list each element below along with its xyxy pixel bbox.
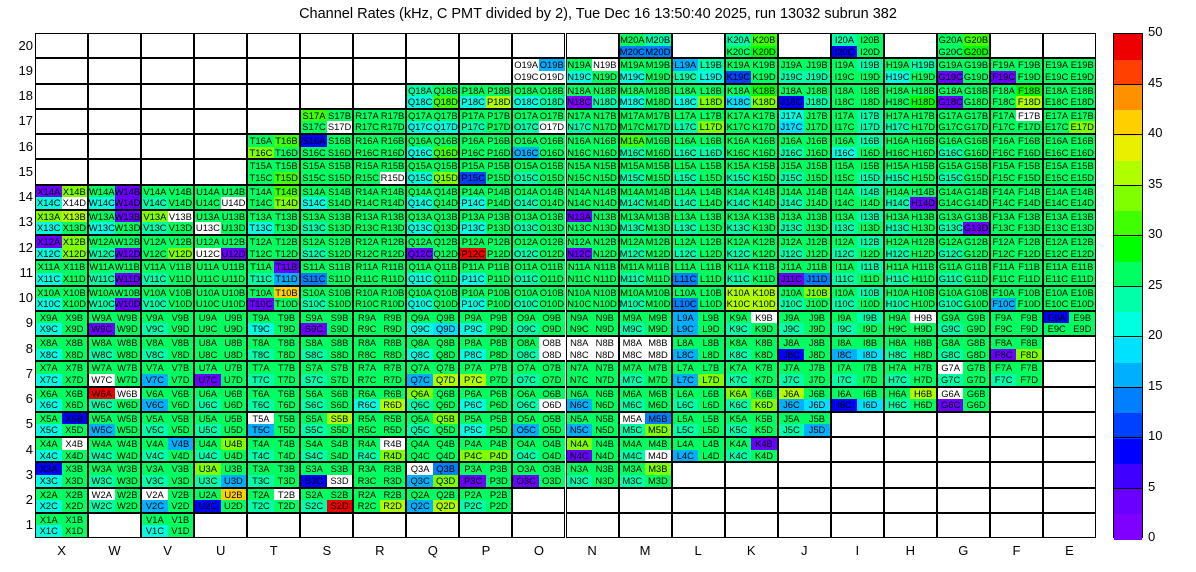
channel-J19D[interactable]: J19D xyxy=(804,71,830,83)
channel-K6B[interactable]: K6B xyxy=(751,388,777,400)
channel-Q13A[interactable]: Q13A xyxy=(407,211,433,223)
channel-V6D[interactable]: V6D xyxy=(168,399,194,411)
channel-T6C[interactable]: T6C xyxy=(248,399,274,411)
heatmap-cell-Q5[interactable]: Q5AQ5BQ5CQ5D xyxy=(406,412,459,437)
channel-R13C[interactable]: R13C xyxy=(354,222,380,234)
channel-Q4A[interactable]: Q4A xyxy=(407,438,433,450)
heatmap-cell-U14[interactable]: U14AU14BU14CU14D xyxy=(194,185,247,210)
channel-N11D[interactable]: N11D xyxy=(592,273,618,285)
heatmap-cell-T16[interactable]: T16AT16BT16CT16D xyxy=(247,134,300,159)
channel-K11A[interactable]: K11A xyxy=(726,261,752,273)
channel-P9C[interactable]: P9C xyxy=(460,323,486,335)
heatmap-cell-L10[interactable]: L10AL10BL10CL10D xyxy=(672,286,725,311)
channel-U7D[interactable]: U7D xyxy=(221,374,247,386)
channel-S12B[interactable]: S12B xyxy=(327,236,353,248)
heatmap-cell-U7[interactable]: U7AU7BU7CU7D xyxy=(194,361,247,386)
heatmap-cell-T8[interactable]: T8AT8BT8CT8D xyxy=(247,336,300,361)
channel-L7D[interactable]: L7D xyxy=(698,374,724,386)
channel-R3D[interactable]: R3D xyxy=(380,475,406,487)
channel-F14B[interactable]: F14B xyxy=(1016,186,1042,198)
heatmap-cell-X11[interactable]: X11AX11BX11CX11D xyxy=(35,260,88,285)
channel-J7A[interactable]: J7A xyxy=(779,362,805,374)
channel-K20C[interactable]: K20C xyxy=(726,46,752,58)
channel-J10A[interactable]: J10A xyxy=(779,287,805,299)
channel-K11C[interactable]: K11C xyxy=(726,273,752,285)
channel-R2D[interactable]: R2D xyxy=(380,500,406,512)
channel-J8C[interactable]: J8C xyxy=(779,349,805,361)
channel-G12D[interactable]: G12D xyxy=(963,248,989,260)
channel-U6D[interactable]: U6D xyxy=(221,399,247,411)
channel-X14B[interactable]: X14B xyxy=(62,186,88,198)
channel-G11C[interactable]: G11C xyxy=(938,273,964,285)
channel-G7B[interactable]: G7B xyxy=(963,362,989,374)
channel-Q14B[interactable]: Q14B xyxy=(433,186,459,198)
heatmap-cell-I15[interactable]: I15AI15BI15CI15D xyxy=(831,159,884,184)
heatmap-cell-Q12[interactable]: Q12AQ12BQ12CQ12D xyxy=(406,235,459,260)
heatmap-cell-V17[interactable] xyxy=(141,109,194,134)
heatmap-cell-K11[interactable]: K11AK11BK11CK11D xyxy=(725,260,778,285)
channel-V8B[interactable]: V8B xyxy=(168,337,194,349)
channel-T14D[interactable]: T14D xyxy=(274,197,300,209)
heatmap-cell-U18[interactable] xyxy=(194,84,247,109)
channel-Q16A[interactable]: Q16A xyxy=(407,135,433,147)
heatmap-cell-L8[interactable]: L8AL8BL8CL8D xyxy=(672,336,725,361)
channel-P2C[interactable]: P2C xyxy=(460,500,486,512)
channel-F15B[interactable]: F15B xyxy=(1016,160,1042,172)
channel-P3D[interactable]: P3D xyxy=(486,475,512,487)
channel-T10B[interactable]: T10B xyxy=(274,287,300,299)
channel-R13D[interactable]: R13D xyxy=(380,222,406,234)
heatmap-cell-L20[interactable] xyxy=(672,33,725,58)
heatmap-cell-K16[interactable]: K16AK16BK16CK16D xyxy=(725,134,778,159)
channel-V14A[interactable]: V14A xyxy=(142,186,168,198)
channel-U10C[interactable]: U10C xyxy=(195,298,221,310)
channel-L12C[interactable]: L12C xyxy=(673,248,699,260)
channel-R16C[interactable]: R16C xyxy=(354,147,380,159)
channel-L14A[interactable]: L14A xyxy=(673,186,699,198)
channel-G20B[interactable]: G20B xyxy=(963,34,989,46)
channel-G10C[interactable]: G10C xyxy=(938,298,964,310)
channel-M20D[interactable]: M20D xyxy=(645,46,671,58)
channel-P14D[interactable]: P14D xyxy=(486,197,512,209)
heatmap-cell-F18[interactable]: F18AF18BF18CF18D xyxy=(990,84,1043,109)
channel-P7D[interactable]: P7D xyxy=(486,374,512,386)
channel-I15D[interactable]: I15D xyxy=(857,172,883,184)
channel-J13B[interactable]: J13B xyxy=(804,211,830,223)
channel-I12A[interactable]: I12A xyxy=(832,236,858,248)
channel-E10A[interactable]: E10A xyxy=(1044,287,1070,299)
channel-K9D[interactable]: K9D xyxy=(751,323,777,335)
channel-L18A[interactable]: L18A xyxy=(673,85,699,97)
channel-L17C[interactable]: L17C xyxy=(673,121,699,133)
channel-H17D[interactable]: H17D xyxy=(910,121,936,133)
channel-Q9B[interactable]: Q9B xyxy=(433,312,459,324)
heatmap-cell-V10[interactable]: V10AV10BV10CV10D xyxy=(141,286,194,311)
heatmap-cell-I19[interactable]: I19AI19BI19CI19D xyxy=(831,58,884,83)
channel-H11A[interactable]: H11A xyxy=(885,261,911,273)
channel-R12B[interactable]: R12B xyxy=(380,236,406,248)
channel-W10C[interactable]: W10C xyxy=(89,298,115,310)
channel-G19A[interactable]: G19A xyxy=(938,59,964,71)
channel-M18C[interactable]: M18C xyxy=(620,96,646,108)
channel-X7B[interactable]: X7B xyxy=(62,362,88,374)
channel-M12B[interactable]: M12B xyxy=(645,236,671,248)
heatmap-cell-Q11[interactable]: Q11AQ11BQ11CQ11D xyxy=(406,260,459,285)
channel-Q4D[interactable]: Q4D xyxy=(433,450,459,462)
channel-M13D[interactable]: M13D xyxy=(645,222,671,234)
channel-W14B[interactable]: W14B xyxy=(115,186,141,198)
channel-K12C[interactable]: K12C xyxy=(726,248,752,260)
channel-S8C[interactable]: S8C xyxy=(301,349,327,361)
channel-O18B[interactable]: O18B xyxy=(539,85,565,97)
channel-S13A[interactable]: S13A xyxy=(301,211,327,223)
channel-S14C[interactable]: S14C xyxy=(301,197,327,209)
channel-O9A[interactable]: O9A xyxy=(513,312,539,324)
channel-K18C[interactable]: K18C xyxy=(726,96,752,108)
channel-T5D[interactable]: T5D xyxy=(274,424,300,436)
channel-P17C[interactable]: P17C xyxy=(460,121,486,133)
channel-I15B[interactable]: I15B xyxy=(857,160,883,172)
heatmap-cell-T7[interactable]: T7AT7BT7CT7D xyxy=(247,361,300,386)
heatmap-cell-O1[interactable] xyxy=(512,513,565,538)
channel-M6C[interactable]: M6C xyxy=(620,399,646,411)
channel-T12A[interactable]: T12A xyxy=(248,236,274,248)
heatmap-cell-S5[interactable]: S5AS5BS5CS5D xyxy=(300,412,353,437)
heatmap-cell-S14[interactable]: S14AS14BS14CS14D xyxy=(300,185,353,210)
channel-N19B[interactable]: N19B xyxy=(592,59,618,71)
channel-E19A[interactable]: E19A xyxy=(1044,59,1070,71)
channel-H15C[interactable]: H15C xyxy=(885,172,911,184)
channel-O19C[interactable]: O19C xyxy=(513,71,539,83)
heatmap-cell-E20[interactable] xyxy=(1043,33,1096,58)
channel-L5A[interactable]: L5A xyxy=(673,413,699,425)
heatmap-cell-O7[interactable]: O7AO7BO7CO7D xyxy=(512,361,565,386)
channel-Q6C[interactable]: Q6C xyxy=(407,399,433,411)
channel-S13C[interactable]: S13C xyxy=(301,222,327,234)
channel-G18A[interactable]: G18A xyxy=(938,85,964,97)
channel-V1C[interactable]: V1C xyxy=(142,525,168,537)
channel-S17C[interactable]: S17C xyxy=(301,121,327,133)
heatmap-cell-P4[interactable]: P4AP4BP4CP4D xyxy=(459,437,512,462)
heatmap-cell-T17[interactable] xyxy=(247,109,300,134)
channel-W13D[interactable]: W13D xyxy=(115,222,141,234)
channel-Q17B[interactable]: Q17B xyxy=(433,110,459,122)
heatmap-cell-K18[interactable]: K18AK18BK18CK18D xyxy=(725,84,778,109)
channel-W7C[interactable]: W7C xyxy=(89,374,115,386)
channel-K19C[interactable]: K19C xyxy=(726,71,752,83)
heatmap-cell-E7[interactable] xyxy=(1043,361,1096,386)
channel-Q10C[interactable]: Q10C xyxy=(407,298,433,310)
channel-T7B[interactable]: T7B xyxy=(274,362,300,374)
heatmap-cell-R14[interactable]: R14AR14BR14CR14D xyxy=(353,185,406,210)
channel-F7C[interactable]: F7C xyxy=(991,374,1017,386)
channel-G14C[interactable]: G14C xyxy=(938,197,964,209)
channel-T13D[interactable]: T13D xyxy=(274,222,300,234)
channel-R5C[interactable]: R5C xyxy=(354,424,380,436)
heatmap-cell-N12[interactable]: N12AN12BN12CN12D xyxy=(566,235,619,260)
channel-E14C[interactable]: E14C xyxy=(1044,197,1070,209)
channel-X12D[interactable]: X12D xyxy=(62,248,88,260)
channel-G7D[interactable]: G7D xyxy=(963,374,989,386)
channel-U7B[interactable]: U7B xyxy=(221,362,247,374)
channel-V6B[interactable]: V6B xyxy=(168,388,194,400)
channel-R17C[interactable]: R17C xyxy=(354,121,380,133)
heatmap-cell-R5[interactable]: R5AR5BR5CR5D xyxy=(353,412,406,437)
channel-T2B[interactable]: T2B xyxy=(274,489,300,501)
channel-L6D[interactable]: L6D xyxy=(698,399,724,411)
channel-Q3A[interactable]: Q3A xyxy=(407,463,433,475)
channel-F8D[interactable]: F8D xyxy=(1016,349,1042,361)
heatmap-cell-R19[interactable] xyxy=(353,58,406,83)
channel-X1B[interactable]: X1B xyxy=(62,514,88,526)
channel-G10D[interactable]: G10D xyxy=(963,298,989,310)
heatmap-cell-O2[interactable] xyxy=(512,488,565,513)
channel-O10D[interactable]: O10D xyxy=(539,298,565,310)
heatmap-cell-L9[interactable]: L9AL9BL9CL9D xyxy=(672,311,725,336)
channel-E16D[interactable]: E16D xyxy=(1069,147,1095,159)
heatmap-cell-J17[interactable]: J17AJ17BJ17CJ17D xyxy=(778,109,831,134)
channel-T7A[interactable]: T7A xyxy=(248,362,274,374)
heatmap-cell-V19[interactable] xyxy=(141,58,194,83)
channel-M15A[interactable]: M15A xyxy=(620,160,646,172)
channel-V3A[interactable]: V3A xyxy=(142,463,168,475)
heatmap-cell-K7[interactable]: K7AK7BK7CK7D xyxy=(725,361,778,386)
channel-H19A[interactable]: H19A xyxy=(885,59,911,71)
channel-U9D[interactable]: U9D xyxy=(221,323,247,335)
channel-J13D[interactable]: J13D xyxy=(804,222,830,234)
channel-Q2B[interactable]: Q2B xyxy=(433,489,459,501)
heatmap-cell-M7[interactable]: M7AM7BM7CM7D xyxy=(619,361,672,386)
channel-T9C[interactable]: T9C xyxy=(248,323,274,335)
channel-U10B[interactable]: U10B xyxy=(221,287,247,299)
channel-X12B[interactable]: X12B xyxy=(62,236,88,248)
channel-N12B[interactable]: N12B xyxy=(592,236,618,248)
channel-Q7D[interactable]: Q7D xyxy=(433,374,459,386)
heatmap-cell-V14[interactable]: V14AV14BV14CV14D xyxy=(141,185,194,210)
channel-N14B[interactable]: N14B xyxy=(592,186,618,198)
channel-V3D[interactable]: V3D xyxy=(168,475,194,487)
channel-W9D[interactable]: W9D xyxy=(115,323,141,335)
channel-O11B[interactable]: O11B xyxy=(539,261,565,273)
channel-E13D[interactable]: E13D xyxy=(1069,222,1095,234)
heatmap-cell-R12[interactable]: R12AR12BR12CR12D xyxy=(353,235,406,260)
channel-T10C[interactable]: T10C xyxy=(248,298,274,310)
channel-G8C[interactable]: G8C xyxy=(938,349,964,361)
channel-N17A[interactable]: N17A xyxy=(567,110,593,122)
channel-K20D[interactable]: K20D xyxy=(751,46,777,58)
channel-V2A[interactable]: V2A xyxy=(142,489,168,501)
channel-K10A[interactable]: K10A xyxy=(726,287,752,299)
channel-F8A[interactable]: F8A xyxy=(991,337,1017,349)
channel-H16B[interactable]: H16B xyxy=(910,135,936,147)
heatmap-cell-U1[interactable] xyxy=(194,513,247,538)
channel-T2A[interactable]: T2A xyxy=(248,489,274,501)
heatmap-cell-E13[interactable]: E13AE13BE13CE13D xyxy=(1043,210,1096,235)
channel-U13B[interactable]: U13B xyxy=(221,211,247,223)
heatmap-cell-M2[interactable] xyxy=(619,488,672,513)
channel-I14B[interactable]: I14B xyxy=(857,186,883,198)
channel-G16C[interactable]: G16C xyxy=(938,147,964,159)
channel-H9C[interactable]: H9C xyxy=(885,323,911,335)
channel-M8A[interactable]: M8A xyxy=(620,337,646,349)
channel-R9D[interactable]: R9D xyxy=(380,323,406,335)
channel-P12B[interactable]: P12B xyxy=(486,236,512,248)
channel-U12D[interactable]: U12D xyxy=(221,248,247,260)
heatmap-cell-X17[interactable] xyxy=(35,109,88,134)
channel-Q9C[interactable]: Q9C xyxy=(407,323,433,335)
channel-O8B[interactable]: O8B xyxy=(539,337,565,349)
channel-O10B[interactable]: O10B xyxy=(539,287,565,299)
channel-R6A[interactable]: R6A xyxy=(354,388,380,400)
heatmap-cell-L18[interactable]: L18AL18BL18CL18D xyxy=(672,84,725,109)
channel-I14A[interactable]: I14A xyxy=(832,186,858,198)
channel-S10C[interactable]: S10C xyxy=(301,298,327,310)
heatmap-cell-S1[interactable] xyxy=(300,513,353,538)
heatmap-cell-I1[interactable] xyxy=(831,513,884,538)
channel-V7A[interactable]: V7A xyxy=(142,362,168,374)
channel-L16B[interactable]: L16B xyxy=(698,135,724,147)
channel-X2B[interactable]: X2B xyxy=(62,489,88,501)
channel-M11A[interactable]: M11A xyxy=(620,261,646,273)
channel-R15B[interactable]: R15B xyxy=(380,160,406,172)
channel-U8D[interactable]: U8D xyxy=(221,349,247,361)
heatmap-cell-J2[interactable] xyxy=(778,488,831,513)
channel-H16A[interactable]: H16A xyxy=(885,135,911,147)
channel-I6C[interactable]: I6C xyxy=(832,399,858,411)
channel-K16B[interactable]: K16B xyxy=(751,135,777,147)
channel-V1B[interactable]: V1B xyxy=(168,514,194,526)
channel-S3B[interactable]: S3B xyxy=(327,463,353,475)
channel-R15D[interactable]: R15D xyxy=(380,172,406,184)
channel-U2C[interactable]: U2C xyxy=(195,500,221,512)
channel-N8A[interactable]: N8A xyxy=(567,337,593,349)
channel-E16C[interactable]: E16C xyxy=(1044,147,1070,159)
heatmap-cell-M17[interactable]: M17AM17BM17CM17D xyxy=(619,109,672,134)
channel-O6C[interactable]: O6C xyxy=(513,399,539,411)
channel-P5B[interactable]: P5B xyxy=(486,413,512,425)
channel-E11D[interactable]: E11D xyxy=(1069,273,1095,285)
heatmap-cell-L13[interactable]: L13AL13BL13CL13D xyxy=(672,210,725,235)
channel-G15B[interactable]: G15B xyxy=(963,160,989,172)
channel-I6B[interactable]: I6B xyxy=(857,388,883,400)
channel-X9B[interactable]: X9B xyxy=(62,312,88,324)
channel-R4C[interactable]: R4C xyxy=(354,450,380,462)
channel-Q2C[interactable]: Q2C xyxy=(407,500,433,512)
heatmap-cell-L14[interactable]: L14AL14BL14CL14D xyxy=(672,185,725,210)
channel-R11A[interactable]: R11A xyxy=(354,261,380,273)
channel-I7C[interactable]: I7C xyxy=(832,374,858,386)
heatmap-cell-I18[interactable]: I18AI18BI18CI18D xyxy=(831,84,884,109)
channel-W11B[interactable]: W11B xyxy=(115,261,141,273)
channel-H12A[interactable]: H12A xyxy=(885,236,911,248)
heatmap-cell-Q4[interactable]: Q4AQ4BQ4CQ4D xyxy=(406,437,459,462)
channel-T16C[interactable]: T16C xyxy=(248,147,274,159)
channel-K16C[interactable]: K16C xyxy=(726,147,752,159)
channel-J13C[interactable]: J13C xyxy=(779,222,805,234)
channel-G10B[interactable]: G10B xyxy=(963,287,989,299)
channel-R11D[interactable]: R11D xyxy=(380,273,406,285)
channel-U11A[interactable]: U11A xyxy=(195,261,221,273)
channel-H14C[interactable]: H14C xyxy=(885,197,911,209)
channel-N8B[interactable]: N8B xyxy=(592,337,618,349)
channel-K14C[interactable]: K14C xyxy=(726,197,752,209)
channel-J8A[interactable]: J8A xyxy=(779,337,805,349)
heatmap-cell-K19[interactable]: K19AK19BK19CK19D xyxy=(725,58,778,83)
channel-N16C[interactable]: N16C xyxy=(567,147,593,159)
heatmap-cell-K12[interactable]: K12AK12BK12CK12D xyxy=(725,235,778,260)
channel-F15A[interactable]: F15A xyxy=(991,160,1017,172)
channel-F13A[interactable]: F13A xyxy=(991,211,1017,223)
channel-H10B[interactable]: H10B xyxy=(910,287,936,299)
channel-F13D[interactable]: F13D xyxy=(1016,222,1042,234)
heatmap-cell-P19[interactable] xyxy=(459,58,512,83)
channel-P13D[interactable]: P13D xyxy=(486,222,512,234)
heatmap-cell-N2[interactable] xyxy=(566,488,619,513)
channel-V9D[interactable]: V9D xyxy=(168,323,194,335)
channel-F18A[interactable]: F18A xyxy=(991,85,1017,97)
channel-P11D[interactable]: P11D xyxy=(486,273,512,285)
channel-I20C[interactable]: I20C xyxy=(832,46,858,58)
channel-O19B[interactable]: O19B xyxy=(539,59,565,71)
channel-T11A[interactable]: T11A xyxy=(248,261,274,273)
channel-U8A[interactable]: U8A xyxy=(195,337,221,349)
channel-S16A[interactable]: S16A xyxy=(301,135,327,147)
channel-H7B[interactable]: H7B xyxy=(910,362,936,374)
heatmap-cell-S16[interactable]: S16AS16BS16CS16D xyxy=(300,134,353,159)
channel-M3D[interactable]: M3D xyxy=(645,475,671,487)
channel-O8A[interactable]: O8A xyxy=(513,337,539,349)
channel-R6C[interactable]: R6C xyxy=(354,399,380,411)
channel-P16A[interactable]: P16A xyxy=(460,135,486,147)
channel-J11B[interactable]: J11B xyxy=(804,261,830,273)
channel-U13C[interactable]: U13C xyxy=(195,222,221,234)
channel-R9C[interactable]: R9C xyxy=(354,323,380,335)
channel-V2C[interactable]: V2C xyxy=(142,500,168,512)
channel-N3C[interactable]: N3C xyxy=(567,475,593,487)
channel-O16D[interactable]: O16D xyxy=(539,147,565,159)
channel-V12D[interactable]: V12D xyxy=(168,248,194,260)
channel-L6A[interactable]: L6A xyxy=(673,388,699,400)
heatmap-cell-S7[interactable]: S7AS7BS7CS7D xyxy=(300,361,353,386)
heatmap-cell-Q18[interactable]: Q18AQ18BQ18CQ18D xyxy=(406,84,459,109)
channel-S5C[interactable]: S5C xyxy=(301,424,327,436)
channel-N7B[interactable]: N7B xyxy=(592,362,618,374)
heatmap-cell-E5[interactable] xyxy=(1043,412,1096,437)
channel-W7D[interactable]: W7D xyxy=(115,374,141,386)
heatmap-cell-S6[interactable]: S6AS6BS6CS6D xyxy=(300,387,353,412)
channel-P4B[interactable]: P4B xyxy=(486,438,512,450)
heatmap-cell-K6[interactable]: K6AK6BK6CK6D xyxy=(725,387,778,412)
channel-E9A[interactable]: E9A xyxy=(1044,312,1070,324)
channel-K20B[interactable]: K20B xyxy=(751,34,777,46)
heatmap-cell-G19[interactable]: G19AG19BG19CG19D xyxy=(937,58,990,83)
channel-N17D[interactable]: N17D xyxy=(592,121,618,133)
channel-O14B[interactable]: O14B xyxy=(539,186,565,198)
heatmap-cell-K17[interactable]: K17AK17BK17CK17D xyxy=(725,109,778,134)
heatmap-cell-M15[interactable]: M15AM15BM15CM15D xyxy=(619,159,672,184)
channel-F16A[interactable]: F16A xyxy=(991,135,1017,147)
channel-I15C[interactable]: I15C xyxy=(832,172,858,184)
channel-F11B[interactable]: F11B xyxy=(1016,261,1042,273)
channel-S2C[interactable]: S2C xyxy=(301,500,327,512)
channel-J19C[interactable]: J19C xyxy=(779,71,805,83)
channel-L9C[interactable]: L9C xyxy=(673,323,699,335)
heatmap-cell-H4[interactable] xyxy=(884,437,937,462)
heatmap-cell-J7[interactable]: J7AJ7BJ7CJ7D xyxy=(778,361,831,386)
channel-K7C[interactable]: K7C xyxy=(726,374,752,386)
channel-P10A[interactable]: P10A xyxy=(460,287,486,299)
channel-N11B[interactable]: N11B xyxy=(592,261,618,273)
